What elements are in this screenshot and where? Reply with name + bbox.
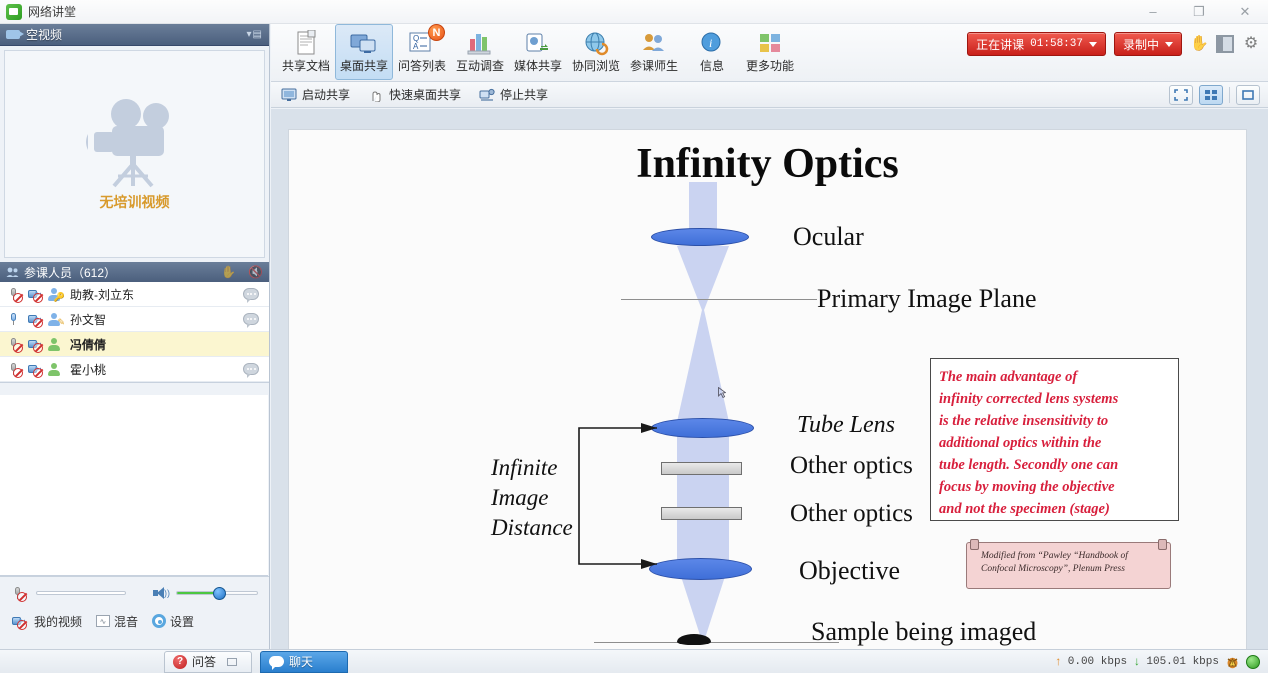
no-video-label: 无培训视频 (100, 192, 170, 212)
participants-empty-space (0, 395, 268, 576)
actual-size-icon[interactable] (1199, 85, 1223, 105)
warning-bug-icon[interactable]: ! (1225, 655, 1240, 669)
advantage-callout-box: The main advantage of infinity corrected… (930, 358, 1179, 521)
beam-image-cone (677, 310, 729, 422)
ribbon-item-share-document[interactable]: 共享文档 (277, 24, 335, 80)
chevron-down-icon (1089, 42, 1097, 47)
hand-icon[interactable]: ✋ (1190, 35, 1208, 53)
quick-desktop-share-icon (368, 88, 384, 102)
app-title: 网络讲堂 (28, 3, 76, 20)
ocular-lens (651, 228, 749, 246)
label-infinite-line1: Infinite (491, 455, 557, 481)
connected-dot-icon (1246, 655, 1260, 669)
chat-bubble-icon[interactable] (243, 313, 259, 325)
label-infinite-line3: Distance (491, 515, 573, 541)
start-share-icon (281, 88, 297, 102)
ribbon-item-desktop-share[interactable]: 桌面共享 (335, 24, 393, 80)
mic-muted-icon[interactable] (6, 336, 23, 353)
ribbon-item-teachers-students[interactable]: 参课师生 (625, 24, 683, 80)
label-tube-lens: Tube Lens (797, 412, 895, 439)
title-bar: 网络讲堂 – ❐ ✕ (0, 0, 1268, 24)
callout-line-1: The main advantage of (939, 366, 1170, 388)
participant-name: 霍小桃 (70, 361, 243, 378)
ribbon-item-qa-list[interactable]: QA N 问答列表 (393, 24, 451, 80)
pin-right-icon (1158, 539, 1167, 550)
ribbon-item-more-functions[interactable]: 更多功能 (741, 24, 799, 80)
label-objective: Objective (799, 556, 900, 586)
maximize-button[interactable]: ❐ (1176, 0, 1222, 24)
mic-muted-icon[interactable] (6, 361, 23, 378)
callout-line-4: additional optics within the (939, 432, 1170, 454)
ribbon-label: 更多功能 (746, 60, 794, 73)
movie-camera-icon (80, 96, 190, 188)
beam-infinity-column (677, 422, 729, 564)
ribbon-item-survey[interactable]: 互动调查 (451, 24, 509, 80)
layout-panel-icon[interactable] (1216, 35, 1234, 53)
download-speed: 105.01 kbps (1146, 656, 1219, 668)
ribbon-item-info[interactable]: i 信息 (683, 24, 741, 80)
label-other-optics-2: Other optics (790, 500, 913, 528)
status-bar: ? 问答 聊天 ↑ 0.00 kbps ↓ 105.01 kbps ! (0, 649, 1268, 673)
video-panel-header: 空视频 ▾▤ (0, 24, 269, 46)
raise-hand-icon[interactable]: ✋ (221, 265, 236, 279)
infinite-distance-bracket (575, 420, 657, 572)
mixer-button[interactable]: ∿ 混音 (96, 613, 138, 630)
fit-screen-icon[interactable] (1169, 85, 1193, 105)
ribbon-label: 桌面共享 (340, 60, 388, 73)
people-icon (6, 267, 19, 278)
microphone-slider[interactable] (36, 591, 126, 595)
video-panel-title: 空视频 (26, 26, 62, 43)
tab-chat-label: 聊天 (289, 653, 313, 670)
ribbon-label: 协同浏览 (572, 60, 620, 73)
teaching-status-button[interactable]: 正在讲课 01:58:37 (967, 32, 1106, 56)
stop-share-button[interactable]: 停止共享 (479, 86, 548, 103)
beam-top (689, 182, 717, 234)
primary-image-plane-line (621, 299, 817, 300)
more-functions-icon (755, 30, 785, 58)
participant-row[interactable]: 霍小桃 (0, 357, 269, 382)
quick-desktop-share-button[interactable]: 快速桌面共享 (368, 86, 461, 103)
share-toolbar: 启动共享 快速桌面共享 停止共享 (271, 82, 1268, 108)
participant-name: 孙文智 (70, 311, 243, 328)
teaching-timer: 01:58:37 (1030, 38, 1083, 50)
camera-icon (6, 30, 20, 39)
window-controls: – ❐ ✕ (1130, 0, 1268, 24)
chat-bubble-icon[interactable] (243, 363, 259, 375)
mute-all-icon[interactable]: 🔇 (248, 265, 263, 279)
citation-box: Modified from “Pawley “Handbook of Confo… (966, 542, 1171, 589)
desktop-share-icon (349, 30, 379, 58)
speaker-icon[interactable]: )) (152, 586, 170, 600)
start-share-button[interactable]: 启动共享 (281, 86, 350, 103)
camera-muted-icon[interactable] (26, 361, 43, 378)
teachers-students-icon (639, 30, 669, 58)
label-infinite-line2: Image (491, 485, 548, 511)
document-share-icon (291, 30, 321, 58)
sample-plane-line (594, 642, 839, 643)
shared-screen-stage[interactable]: Infinity Optics (271, 109, 1268, 649)
co-browse-icon (581, 30, 611, 58)
sidebar-controls: )) 我的视频 ∿ 混音 设置 (0, 576, 269, 649)
settings-button[interactable]: 设置 (152, 613, 194, 630)
close-button[interactable]: ✕ (1222, 0, 1268, 24)
callout-line-2: infinity corrected lens systems (939, 388, 1170, 410)
teaching-label: 正在讲课 (976, 36, 1024, 53)
tube-lens (651, 418, 754, 438)
minimize-button[interactable]: – (1130, 0, 1176, 24)
panel-menu-icon[interactable]: ▾▤ (247, 29, 263, 40)
toolbar-divider (1229, 87, 1230, 103)
sample-specimen-icon (677, 634, 711, 645)
participant-name: 冯倩倩 (70, 336, 269, 353)
participants-list: 🔑 助教-刘立东 ✎ 孙文智 冯倩倩 (0, 282, 269, 383)
camera-muted-icon[interactable] (26, 311, 43, 328)
arrow-up-icon: ↑ (1055, 655, 1062, 669)
participant-name: 助教-刘立东 (70, 286, 243, 303)
label-ocular: Ocular (793, 222, 864, 252)
citation-line-1: Modified from “Pawley “Handbook of (981, 550, 1160, 563)
ribbon-label: 互动调查 (456, 60, 504, 73)
tab-qa-label: 问答 (192, 653, 216, 670)
gear-icon[interactable]: ⚙ (1242, 35, 1260, 53)
main-area: 共享文档 桌面共享 QA N 问答列表 互动调查 (271, 24, 1268, 649)
callout-line-3: is the relative insensitivity to (939, 410, 1170, 432)
other-optics-slab-2 (661, 507, 742, 520)
svg-text:i: i (709, 36, 712, 50)
citation-line-2: Confocal Microscopy”, Plenum Press (981, 563, 1160, 576)
camera-muted-icon[interactable] (26, 336, 43, 353)
chat-icon (269, 656, 284, 667)
label-primary-image-plane: Primary Image Plane (817, 284, 1037, 314)
volume-slider[interactable] (176, 591, 258, 595)
label-sample-being-imaged: Sample being imaged (811, 617, 1036, 647)
video-placeholder-area[interactable]: 无培训视频 (4, 50, 265, 258)
ribbon-label: 问答列表 (398, 60, 446, 73)
my-video-muted-icon (10, 613, 27, 630)
participants-count-label: 参课人员（612） (24, 264, 116, 281)
callout-line-6: focus by moving the objective (939, 476, 1170, 498)
ribbon-label: 媒体共享 (514, 60, 562, 73)
ribbon-toolbar: 共享文档 桌面共享 QA N 问答列表 互动调查 (271, 24, 1268, 82)
restore-icon[interactable] (227, 658, 237, 666)
presentation-slide: Infinity Optics (288, 129, 1247, 649)
participant-row[interactable]: ✎ 孙文智 (0, 307, 269, 332)
qa-badge: N (428, 24, 445, 41)
label-other-optics-1: Other optics (790, 452, 913, 480)
recording-label: 录制中 (1123, 36, 1159, 53)
survey-chart-icon (465, 30, 495, 58)
recording-status-button[interactable]: 录制中 (1114, 32, 1182, 56)
upload-speed: 0.00 kbps (1068, 656, 1127, 668)
camera-muted-icon[interactable] (26, 286, 43, 303)
svg-text:A: A (413, 42, 419, 51)
ribbon-status-group: 正在讲课 01:58:37 录制中 ✋ ⚙ (967, 32, 1260, 56)
my-video-label: 我的视频 (34, 613, 82, 630)
microphone-muted-icon[interactable] (10, 585, 27, 602)
participant-row-selected[interactable]: 冯倩倩 (0, 332, 269, 357)
share-label: 启动共享 (302, 86, 350, 103)
callout-line-5: tube length. Secondly one can (939, 454, 1170, 476)
ribbon-label: 参课师生 (630, 60, 678, 73)
pin-left-icon (970, 539, 979, 550)
chevron-down-icon (1165, 42, 1173, 47)
slide-title: Infinity Optics (289, 140, 1246, 188)
fullscreen-icon[interactable] (1236, 85, 1260, 105)
info-icon: i (697, 30, 727, 58)
arrow-down-icon: ↓ (1133, 655, 1140, 669)
question-icon: ? (173, 655, 187, 669)
tab-qa[interactable]: ? 问答 (164, 651, 252, 673)
chat-bubble-icon[interactable] (243, 288, 259, 300)
media-share-icon (523, 30, 553, 58)
other-optics-slab-1 (661, 462, 742, 475)
objective-lens (649, 558, 752, 580)
mouse-cursor-icon (718, 387, 726, 398)
my-video-button[interactable]: 我的视频 (10, 613, 82, 630)
app-logo-icon (6, 4, 22, 20)
participant-row[interactable]: 🔑 助教-刘立东 (0, 282, 269, 307)
role-assistant-icon: 🔑 (46, 286, 63, 303)
mic-active-icon[interactable] (6, 311, 23, 328)
mixer-label: 混音 (114, 613, 138, 630)
mic-muted-icon[interactable] (6, 286, 23, 303)
application-window: 网络讲堂 – ❐ ✕ 空视频 ▾▤ (0, 0, 1268, 673)
ribbon-label: 信息 (700, 60, 724, 73)
share-label: 快速桌面共享 (389, 86, 461, 103)
ribbon-item-co-browse[interactable]: 协同浏览 (567, 24, 625, 80)
share-label: 停止共享 (500, 86, 548, 103)
settings-label: 设置 (170, 613, 194, 630)
role-student-icon (46, 336, 63, 353)
stop-share-icon (479, 88, 495, 102)
ribbon-item-media-share[interactable]: 媒体共享 (509, 24, 567, 80)
view-mode-buttons (1169, 85, 1260, 105)
tab-chat[interactable]: 聊天 (260, 651, 348, 673)
participants-header: 参课人员（612） ✋ 🔇 (0, 262, 269, 282)
gear-icon (152, 614, 166, 628)
role-presenter-icon: ✎ (46, 311, 63, 328)
mixer-icon: ∿ (96, 615, 110, 627)
network-status: ↑ 0.00 kbps ↓ 105.01 kbps ! (1055, 655, 1268, 669)
beam-ocular-cone (677, 246, 729, 310)
callout-line-7: and not the specimen (stage) (939, 498, 1170, 520)
left-sidebar: 空视频 ▾▤ 无培训视频 参课人员 (0, 24, 270, 649)
role-student-icon (46, 361, 63, 378)
ribbon-label: 共享文档 (282, 60, 330, 73)
